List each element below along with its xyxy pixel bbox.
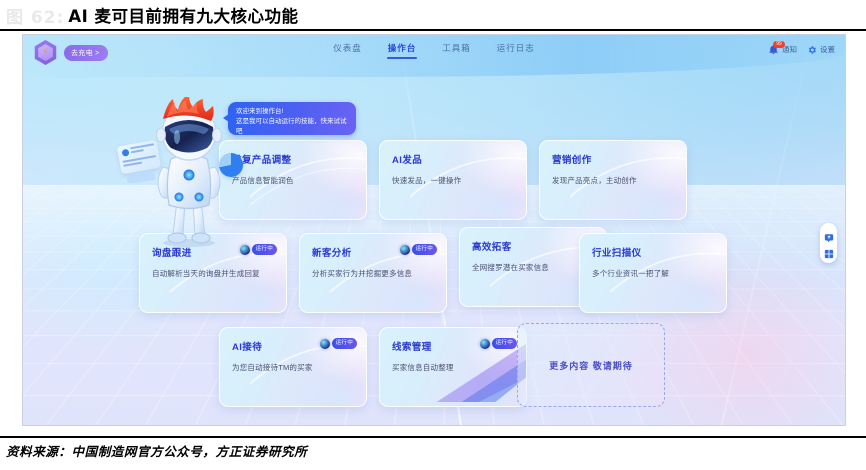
card-description: 全网搜罗潜在买家信息 bbox=[472, 262, 594, 273]
figure-number: 图 62: bbox=[6, 3, 64, 28]
skill-card-lead-management[interactable]: 运行中 线索管理 买家信息自动整理 bbox=[379, 327, 527, 407]
floating-card-bar bbox=[123, 162, 142, 167]
status-badge-running: 运行中 bbox=[480, 338, 517, 349]
app-header: ⚡ 去充电 > 仪表盘 操作台 工具箱 运行日志 99 通知 设置 bbox=[23, 35, 845, 69]
main-nav: 仪表盘 操作台 工具箱 运行日志 bbox=[23, 42, 845, 59]
floating-card-dot bbox=[122, 149, 130, 157]
card-description: 分析买家行为并挖掘更多信息 bbox=[312, 268, 434, 279]
title-divider bbox=[0, 29, 866, 31]
status-orb-icon bbox=[400, 245, 410, 255]
header-actions: 99 通知 设置 bbox=[768, 44, 835, 55]
notification-badge: 99 bbox=[773, 41, 785, 48]
grid-apps-icon[interactable] bbox=[824, 246, 834, 256]
card-description: 买家信息自动整理 bbox=[392, 362, 514, 373]
status-badge-running: 运行中 bbox=[400, 244, 437, 255]
status-badge-label: 运行中 bbox=[332, 338, 357, 349]
skill-card-ai-publish[interactable]: AI发品 快速发品，一键操作 bbox=[379, 140, 527, 220]
coming-soon-label: 更多内容 敬请期待 bbox=[549, 359, 633, 372]
status-badge-label: 运行中 bbox=[252, 244, 277, 255]
chat-bubble-icon[interactable] bbox=[824, 230, 834, 240]
floating-dock bbox=[820, 223, 837, 263]
figure-title-row: 图 62: AI 麦可目前拥有九大核心功能 bbox=[0, 0, 866, 30]
footer-divider bbox=[0, 436, 866, 438]
figure-source: 资料来源：中国制造网官方公众号，方正证券研究所 bbox=[6, 441, 307, 460]
card-title: 行业扫描仪 bbox=[592, 245, 714, 259]
tab-dashboard[interactable]: 仪表盘 bbox=[333, 42, 362, 59]
card-description: 为您自动接待TM的买家 bbox=[232, 362, 354, 373]
status-badge-label: 运行中 bbox=[492, 338, 517, 349]
skill-card-new-customer-analysis[interactable]: 运行中 新客分析 分析买家行为并挖掘更多信息 bbox=[299, 233, 447, 313]
tab-run-log[interactable]: 运行日志 bbox=[497, 42, 535, 59]
card-title: 高效拓客 bbox=[472, 239, 594, 253]
card-title: AI发品 bbox=[392, 152, 514, 166]
notifications-button[interactable]: 99 通知 bbox=[768, 44, 797, 55]
speech-line-1: 欢迎来到操作台! bbox=[236, 107, 348, 117]
status-orb-icon bbox=[240, 245, 250, 255]
card-title: 营销创作 bbox=[552, 152, 674, 166]
tab-toolbox[interactable]: 工具箱 bbox=[442, 42, 471, 59]
status-badge-running: 运行中 bbox=[320, 338, 357, 349]
card-title: 重复产品调整 bbox=[232, 152, 354, 166]
skill-card-marketing-creation[interactable]: 营销创作 发现产品亮点，主动创作 bbox=[539, 140, 687, 220]
card-description: 自动解析当天的询盘并生成回复 bbox=[152, 268, 274, 279]
status-orb-icon bbox=[320, 339, 330, 349]
bell-icon: 99 bbox=[768, 44, 779, 55]
speech-line-2: 这是我可以自动运行的技能，快来试试吧 bbox=[236, 117, 348, 137]
card-description: 产品信息智能润色 bbox=[232, 175, 354, 186]
card-description: 快速发品，一键操作 bbox=[392, 175, 514, 186]
skill-card-ai-reception[interactable]: 运行中 AI接待 为您自动接待TM的买家 bbox=[219, 327, 367, 407]
skill-card-coming-soon[interactable]: 更多内容 敬请期待 bbox=[517, 323, 665, 407]
gear-icon bbox=[807, 45, 817, 55]
skill-card-industry-scanner[interactable]: 行业扫描仪 多个行业资讯一把了解 bbox=[579, 233, 727, 313]
status-badge-running: 运行中 bbox=[240, 244, 277, 255]
card-description: 多个行业资讯一把了解 bbox=[592, 268, 714, 279]
tab-console[interactable]: 操作台 bbox=[388, 42, 417, 59]
status-orb-icon bbox=[480, 339, 490, 349]
card-description: 发现产品亮点，主动创作 bbox=[552, 175, 674, 186]
status-badge-label: 运行中 bbox=[412, 244, 437, 255]
settings-button[interactable]: 设置 bbox=[807, 44, 835, 55]
settings-label: 设置 bbox=[820, 44, 835, 55]
app-screenshot: ⚡ 去充电 > 仪表盘 操作台 工具箱 运行日志 99 通知 设置 bbox=[22, 34, 846, 426]
skill-card-repeat-product-adjust[interactable]: 重复产品调整 产品信息智能润色 bbox=[219, 140, 367, 220]
mascot-speech-bubble: 欢迎来到操作台! 这是我可以自动运行的技能，快来试试吧 bbox=[228, 102, 356, 135]
figure-title: AI 麦可目前拥有九大核心功能 bbox=[68, 3, 298, 27]
